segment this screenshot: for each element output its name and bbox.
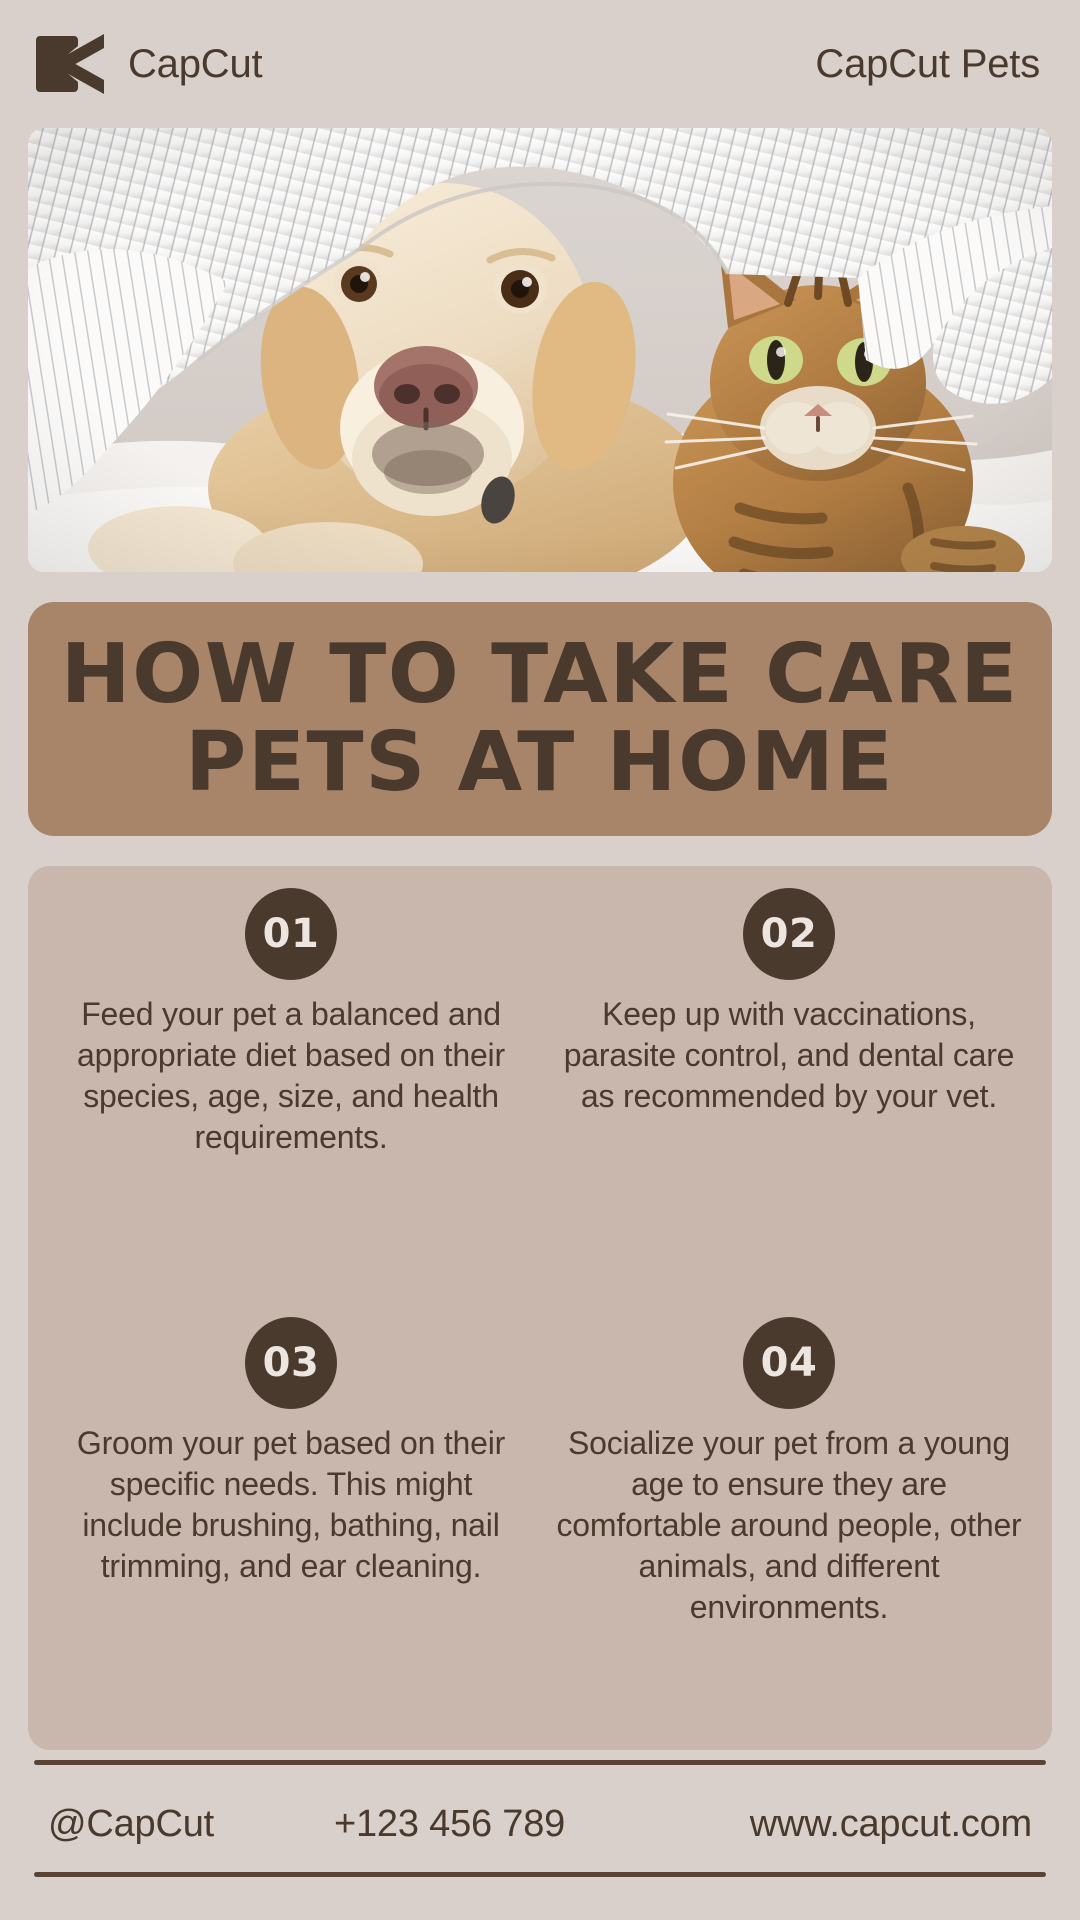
- page-title-line-2: PETS AT HOME: [185, 723, 894, 803]
- page-title-line-1: HOW TO TAKE CARE: [61, 635, 1019, 715]
- brand-name: CapCut: [128, 44, 262, 84]
- step-item-01: 01 Feed your pet a balanced and appropri…: [42, 888, 540, 1311]
- step-badge-03: 03: [245, 1317, 337, 1409]
- capcut-logo-icon: [34, 32, 108, 96]
- footer: @CapCut +123 456 789 www.capcut.com: [34, 1780, 1046, 1868]
- footer-rule-top: [34, 1760, 1046, 1765]
- step-number-01: 01: [263, 914, 320, 954]
- steps-panel: 01 Feed your pet a balanced and appropri…: [28, 866, 1052, 1750]
- footer-handle[interactable]: @CapCut: [34, 1805, 334, 1843]
- step-badge-01: 01: [245, 888, 337, 980]
- step-text-03: Groom your pet based on their specific n…: [56, 1423, 526, 1587]
- step-item-02: 02 Keep up with vaccinations, parasite c…: [540, 888, 1038, 1311]
- step-item-03: 03 Groom your pet based on their specifi…: [42, 1311, 540, 1734]
- step-badge-02: 02: [743, 888, 835, 980]
- header-right-label: CapCut Pets: [815, 44, 1040, 84]
- header: CapCut CapCut Pets: [0, 0, 1080, 128]
- hero-image: [28, 128, 1052, 572]
- footer-website[interactable]: www.capcut.com: [654, 1805, 1046, 1843]
- step-badge-04: 04: [743, 1317, 835, 1409]
- footer-rule-bottom: [34, 1872, 1046, 1877]
- footer-phone[interactable]: +123 456 789: [334, 1805, 654, 1843]
- infographic-page: CapCut CapCut Pets: [0, 0, 1080, 1920]
- brand: CapCut: [34, 32, 262, 96]
- title-banner: HOW TO TAKE CARE PETS AT HOME: [28, 602, 1052, 836]
- step-text-04: Socialize your pet from a young age to e…: [554, 1423, 1024, 1628]
- step-number-04: 04: [761, 1343, 818, 1383]
- step-item-04: 04 Socialize your pet from a young age t…: [540, 1311, 1038, 1734]
- step-text-01: Feed your pet a balanced and appropriate…: [56, 994, 526, 1158]
- step-number-02: 02: [761, 914, 818, 954]
- step-number-03: 03: [263, 1343, 320, 1383]
- step-text-02: Keep up with vaccinations, parasite cont…: [554, 994, 1024, 1117]
